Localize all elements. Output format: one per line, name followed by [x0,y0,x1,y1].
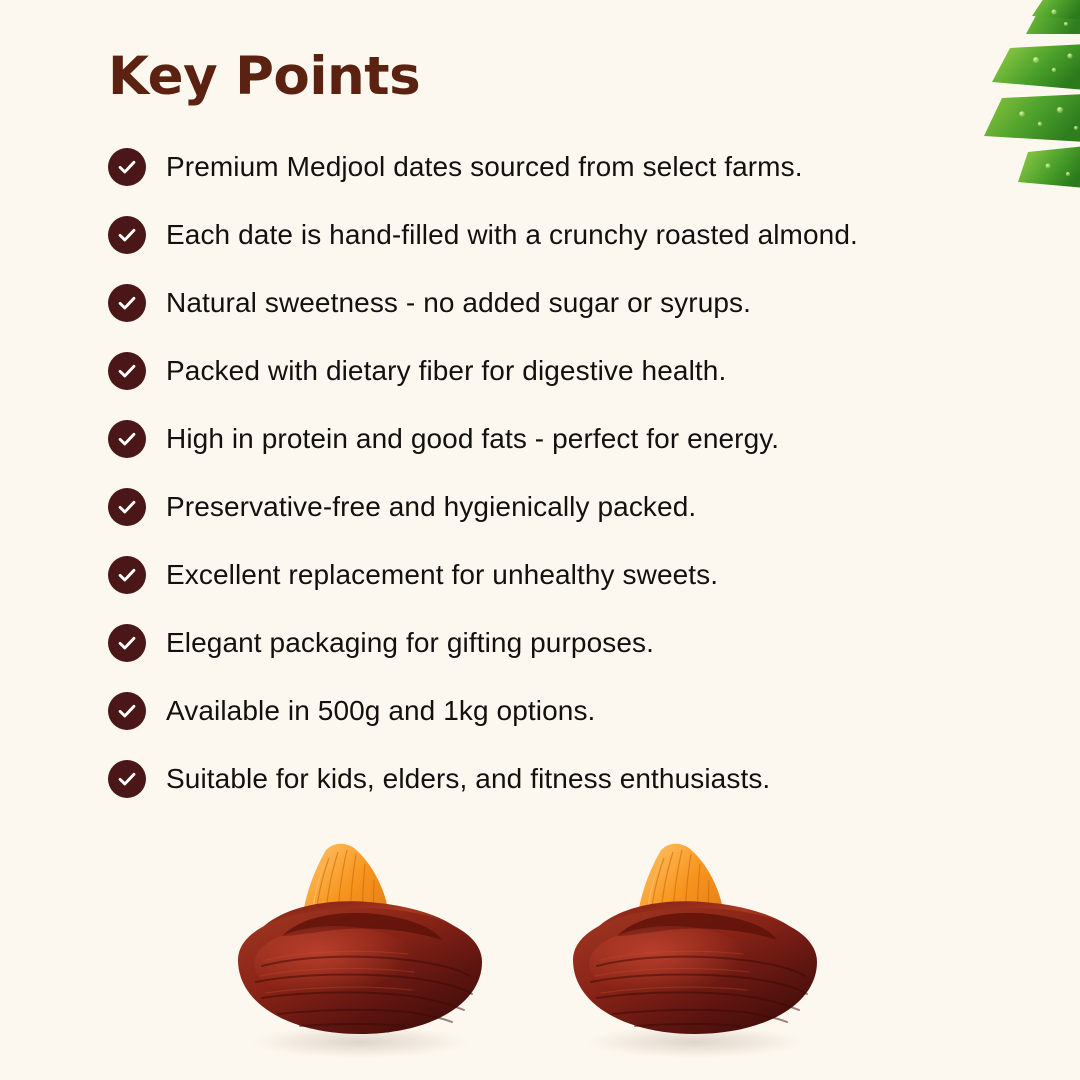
list-item-label: Elegant packaging for gifting purposes. [166,629,654,657]
check-circle-icon [108,216,146,254]
list-item-label: Suitable for kids, elders, and fitness e… [166,765,770,793]
list-item: Suitable for kids, elders, and fitness e… [108,745,1008,813]
list-item: Natural sweetness - no added sugar or sy… [108,269,1008,337]
check-circle-icon [108,148,146,186]
page-title: Key Points [108,48,420,106]
key-points-list: Premium Medjool dates sourced from selec… [108,133,1008,813]
list-item-label: Packed with dietary fiber for digestive … [166,357,726,385]
check-circle-icon [108,284,146,322]
list-item-label: Preservative-free and hygienically packe… [166,493,696,521]
list-item-label: Natural sweetness - no added sugar or sy… [166,289,751,317]
list-item-label: Excellent replacement for unhealthy swee… [166,561,718,589]
almond-stuffed-date-icon [208,836,508,1066]
check-circle-icon [108,556,146,594]
list-item: Premium Medjool dates sourced from selec… [108,133,1008,201]
key-points-poster: Key Points Premium Medjool dates sourced… [0,0,1080,1080]
list-item-label: Premium Medjool dates sourced from selec… [166,153,803,181]
product-image-row [0,828,1080,1080]
list-item: Excellent replacement for unhealthy swee… [108,541,1008,609]
list-item-label: Available in 500g and 1kg options. [166,697,595,725]
check-circle-icon [108,420,146,458]
check-circle-icon [108,352,146,390]
list-item: Packed with dietary fiber for digestive … [108,337,1008,405]
list-item-label: Each date is hand-filled with a crunchy … [166,221,858,249]
list-item: Each date is hand-filled with a crunchy … [108,201,1008,269]
list-item: Preservative-free and hygienically packe… [108,473,1008,541]
list-item: Available in 500g and 1kg options. [108,677,1008,745]
check-circle-icon [108,624,146,662]
check-circle-icon [108,760,146,798]
check-circle-icon [108,488,146,526]
list-item: Elegant packaging for gifting purposes. [108,609,1008,677]
check-circle-icon [108,692,146,730]
list-item: High in protein and good fats - perfect … [108,405,1008,473]
almond-stuffed-date-icon [543,836,843,1066]
list-item-label: High in protein and good fats - perfect … [166,425,779,453]
